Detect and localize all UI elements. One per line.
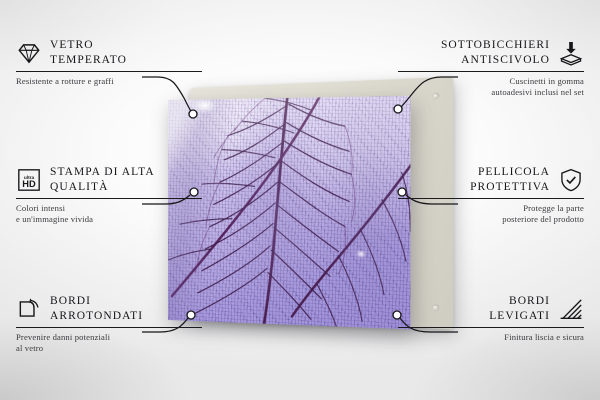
callout-title-line: QUALITÀ (50, 180, 155, 195)
callout-rule (398, 71, 584, 72)
callout-rule (16, 327, 202, 328)
callout-title-line: ARROTONDATI (50, 309, 143, 324)
glass-print-surface (168, 96, 410, 329)
callout-title: BORDI ARROTONDATI (50, 294, 143, 323)
callout-bordi-arrotondati: BORDI ARROTONDATI Prevenire danni potenz… (16, 294, 202, 354)
callout-title-line: LEVIGATI (489, 309, 550, 324)
callout-subtitle-line: Finitura liscia e sicura (398, 332, 584, 343)
callout-subtitle: Finitura liscia e sicura (398, 332, 584, 343)
press-pad-arrow-icon (558, 40, 584, 66)
ultra-hd-badge-icon: ultra HD (16, 167, 42, 193)
callout-title-line: PELLICOLA (470, 165, 550, 180)
callout-title-line: BORDI (489, 294, 550, 309)
callout-rule (398, 198, 584, 199)
callout-subtitle-line: Protegge la parte (398, 203, 584, 214)
callout-title-line: STAMPA DI ALTA (50, 165, 155, 180)
callout-title-line: PROTETTIVA (470, 180, 550, 195)
callout-title-line: SOTTOBICCHIERI (441, 38, 550, 53)
product-image (168, 88, 436, 320)
callout-subtitle: Protegge la parte posteriore del prodott… (398, 203, 584, 225)
callout-title: PELLICOLA PROTETTIVA (470, 165, 550, 194)
callout-title: STAMPA DI ALTA QUALITÀ (50, 165, 155, 194)
callout-header: ultra HD STAMPA DI ALTA QUALITÀ (16, 165, 202, 194)
callout-title-line: TEMPERATO (50, 53, 127, 68)
product-infographic: VETRO TEMPERATO Resistente a rotture e g… (0, 0, 600, 400)
callout-subtitle-line: Colori intensi (16, 203, 202, 214)
callout-title: BORDI LEVIGATI (489, 294, 550, 323)
callout-rule (16, 71, 202, 72)
callout-bordi-levigati: BORDI LEVIGATI Finitura liscia e sicura (398, 294, 584, 343)
callout-subtitle-line: posteriore del prodotto (398, 214, 584, 225)
leaf-vein-pattern (168, 96, 410, 329)
callout-subtitle-line: Cuscinetti in gomma (398, 76, 584, 87)
rounded-corner-icon (16, 296, 42, 322)
callout-title-line: VETRO (50, 38, 127, 53)
callout-stampa-di-alta-qualita: ultra HD STAMPA DI ALTA QUALITÀ Colori i… (16, 165, 202, 225)
callout-header: VETRO TEMPERATO (16, 38, 202, 67)
callout-header: PELLICOLA PROTETTIVA (398, 165, 584, 194)
callout-header: SOTTOBICCHIERI ANTISCIVOLO (398, 38, 584, 67)
callout-subtitle-line: e un'immagine vivida (16, 214, 202, 225)
callout-title: VETRO TEMPERATO (50, 38, 127, 67)
callout-title: SOTTOBICCHIERI ANTISCIVOLO (441, 38, 550, 67)
callout-subtitle: Prevenire danni potenziali al vetro (16, 332, 202, 354)
callout-subtitle: Colori intensi e un'immagine vivida (16, 203, 202, 225)
callout-rule (398, 327, 584, 328)
callout-rule (16, 198, 202, 199)
diamond-icon (16, 40, 42, 66)
svg-text:HD: HD (22, 179, 36, 189)
callout-sottobicchieri-antiscivolo: SOTTOBICCHIERI ANTISCIVOLO Cuscinetti in… (398, 38, 584, 98)
callout-pellicola-protettiva: PELLICOLA PROTETTIVA Protegge la parte p… (398, 165, 584, 225)
callout-subtitle-line: al vetro (16, 343, 202, 354)
callout-subtitle: Resistente a rotture e graffi (16, 76, 202, 87)
callout-subtitle-line: autoadesivi inclusi nel set (398, 87, 584, 98)
shield-check-icon (558, 167, 584, 193)
callout-subtitle-line: Prevenire danni potenziali (16, 332, 202, 343)
callout-subtitle: Cuscinetti in gomma autoadesivi inclusi … (398, 76, 584, 98)
callout-header: BORDI LEVIGATI (398, 294, 584, 323)
callout-header: BORDI ARROTONDATI (16, 294, 202, 323)
callout-vetro-temperato: VETRO TEMPERATO Resistente a rotture e g… (16, 38, 202, 87)
leaf-overlap-shading (168, 96, 410, 329)
polished-lines-icon (558, 296, 584, 322)
callout-title-line: ANTISCIVOLO (441, 53, 550, 68)
callout-subtitle-line: Resistente a rotture e graffi (16, 76, 202, 87)
callout-title-line: BORDI (50, 294, 143, 309)
